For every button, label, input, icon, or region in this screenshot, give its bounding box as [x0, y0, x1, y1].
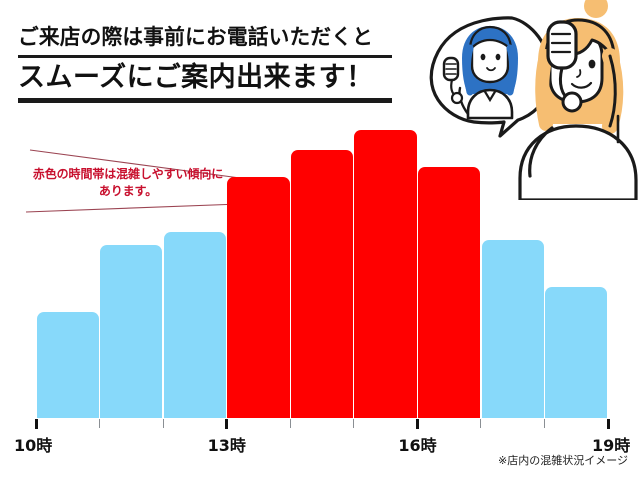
axis-label-10時: 10時: [14, 432, 52, 456]
axis-tick-minor: [544, 419, 545, 428]
axis-tick-minor: [163, 419, 164, 428]
bar-14時: [291, 150, 353, 418]
bar-18時: [545, 287, 607, 418]
axis-label-16時: 16時: [398, 432, 436, 456]
illustration-group: [400, 0, 640, 200]
staff-in-speech-bubble-illustration: [459, 26, 518, 118]
poster-canvas: ご来店の際は事前にお電話いただくと スムーズにご案内出来ます！ 赤色の時間帯は混…: [0, 0, 640, 480]
bar-12時: [164, 232, 226, 418]
axis-tick-major: [416, 419, 419, 429]
axis-tick-major: [607, 419, 610, 429]
axis-tick-minor: [99, 419, 100, 428]
bar-16時: [418, 167, 480, 418]
axis-tick-minor: [290, 419, 291, 428]
chart-footnote: ※店内の混雑状況イメージ: [498, 452, 628, 468]
bar-17時: [482, 240, 544, 418]
bar-13時: [227, 177, 289, 418]
axis-tick-minor: [480, 419, 481, 428]
axis-label-13時: 13時: [208, 432, 246, 456]
axis-tick-major: [35, 419, 38, 429]
axis-tick-minor: [353, 419, 354, 428]
bar-11時: [100, 245, 162, 418]
axis-tick-major: [225, 419, 228, 429]
bar-10時: [37, 312, 99, 418]
